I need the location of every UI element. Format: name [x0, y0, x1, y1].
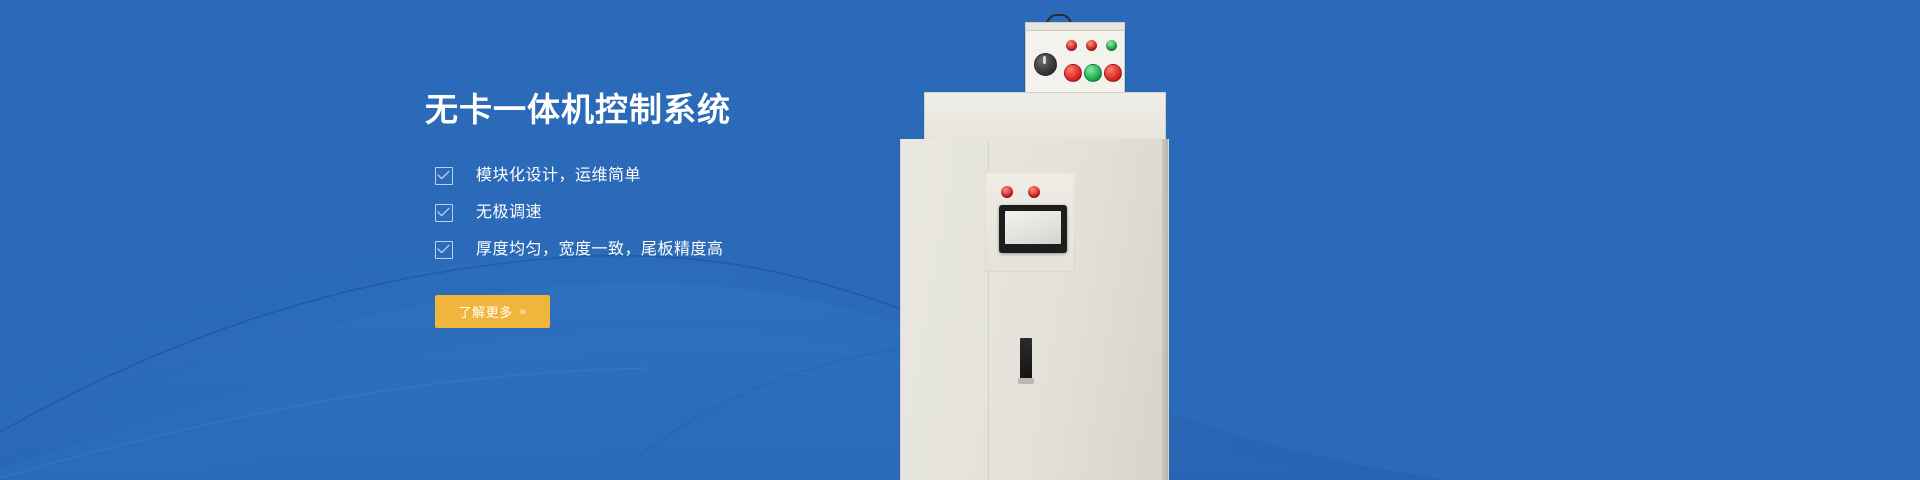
checkbox-checked-icon [435, 241, 453, 259]
learn-more-label: 了解更多 [459, 302, 513, 321]
chevron-right-icon: » [520, 306, 527, 318]
list-item: 厚度均匀，宽度一致，尾板精度高 [435, 240, 1045, 260]
hero-banner: 无卡一体机控制系统 模块化设计，运维简单 无极调速 厚度均匀，宽度一致，尾板精度… [0, 0, 1920, 480]
cabinet-vent-slot [1020, 338, 1032, 380]
cabinet-right-edge [1162, 139, 1168, 480]
hero-content: 无卡一体机控制系统 模块化设计，运维简单 无极调速 厚度均匀，宽度一致，尾板精度… [425, 88, 1045, 328]
push-button-red-1[interactable] [1064, 64, 1082, 82]
push-button-green[interactable] [1084, 64, 1102, 82]
control-box [1025, 30, 1125, 97]
feature-label: 无极调速 [476, 203, 542, 223]
checkbox-checked-icon [435, 204, 453, 222]
list-item: 模块化设计，运维简单 [435, 166, 1045, 186]
push-button-red-2[interactable] [1104, 64, 1122, 82]
checkbox-checked-icon [435, 167, 453, 185]
feature-label: 模块化设计，运维简单 [476, 166, 641, 186]
indicator-lamp-red-1 [1066, 40, 1077, 51]
learn-more-button[interactable]: 了解更多 » [435, 295, 550, 328]
indicator-lamp-green [1106, 40, 1117, 51]
selector-knob[interactable] [1034, 53, 1057, 76]
feature-list: 模块化设计，运维简单 无极调速 厚度均匀，宽度一致，尾板精度高 [435, 166, 1045, 260]
cabinet-vent-lip [1018, 378, 1034, 384]
feature-label: 厚度均匀，宽度一致，尾板精度高 [476, 240, 724, 260]
list-item: 无极调速 [435, 203, 1045, 223]
page-title: 无卡一体机控制系统 [425, 88, 1045, 132]
indicator-lamp-red-2 [1086, 40, 1097, 51]
